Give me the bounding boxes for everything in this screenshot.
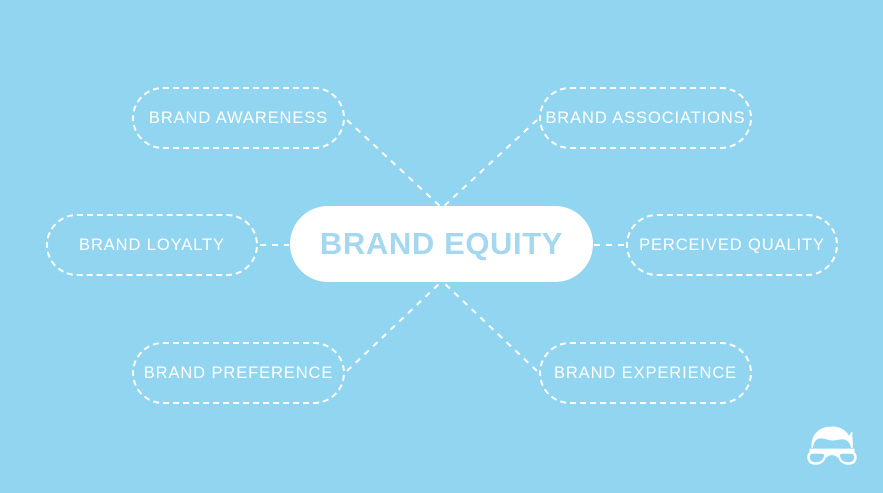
node-label-brand-experience: BRAND EXPERIENCE — [554, 364, 737, 383]
node-brand-associations[interactable]: BRAND ASSOCIATIONS — [539, 87, 752, 149]
node-brand-awareness[interactable]: BRAND AWARENESS — [132, 87, 345, 149]
face-with-glasses-logo — [803, 424, 861, 476]
node-label-perceived-quality: PERCEIVED QUALITY — [639, 236, 825, 255]
node-label-brand-loyalty: BRAND LOYALTY — [79, 236, 225, 255]
diagram-canvas: BRAND AWARENESS BRAND ASSOCIATIONS BRAND… — [0, 0, 883, 493]
node-brand-preference[interactable]: BRAND PREFERENCE — [132, 342, 345, 404]
node-label-brand-preference: BRAND PREFERENCE — [144, 364, 334, 383]
node-brand-equity-center[interactable]: BRAND EQUITY — [290, 206, 593, 282]
node-perceived-quality[interactable]: PERCEIVED QUALITY — [626, 214, 838, 276]
node-label-brand-associations: BRAND ASSOCIATIONS — [545, 109, 745, 128]
node-brand-loyalty[interactable]: BRAND LOYALTY — [46, 214, 258, 276]
connector-preference — [347, 282, 441, 371]
node-label-brand-awareness: BRAND AWARENESS — [149, 109, 328, 128]
connector-experience — [443, 282, 537, 371]
node-label-brand-equity: BRAND EQUITY — [320, 226, 563, 262]
connector-awareness — [347, 120, 441, 207]
connector-associations — [443, 120, 537, 207]
node-brand-experience[interactable]: BRAND EXPERIENCE — [539, 342, 752, 404]
